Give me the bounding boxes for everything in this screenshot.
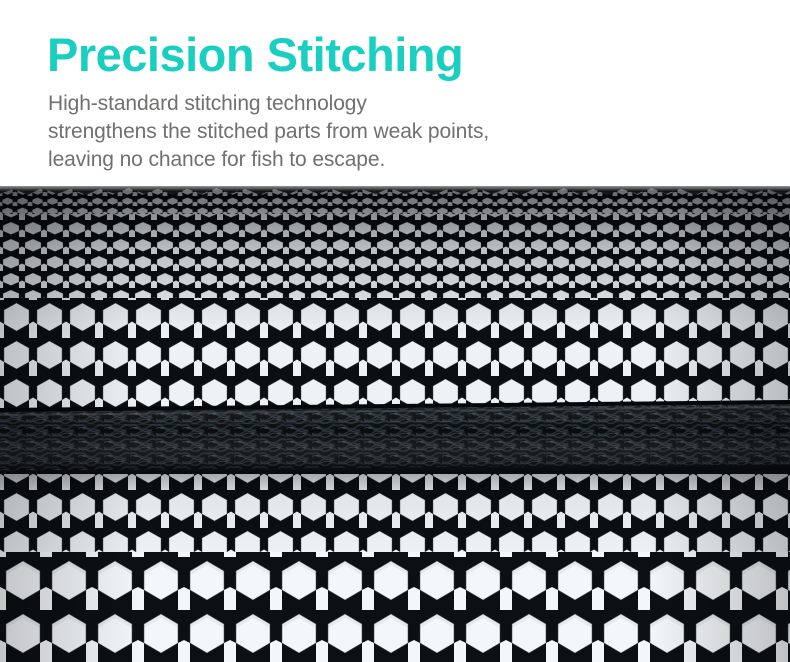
mesh-body: [0, 186, 790, 662]
description-text: High-standard stitching technology stren…: [48, 90, 489, 174]
header-text-block: Precision Stitching High-standard stitch…: [0, 0, 790, 186]
description-line: High-standard stitching technology: [48, 90, 489, 118]
product-feature-banner: Precision Stitching High-standard stitch…: [0, 0, 790, 662]
description-line: leaving no chance for fish to escape.: [48, 146, 489, 174]
description-line: strengthens the stitched parts from weak…: [48, 118, 489, 146]
page-title: Precision Stitching: [47, 29, 463, 81]
net-mesh-illustration: [0, 186, 790, 662]
photo-vignette: [0, 186, 790, 662]
net-mesh-photo: [0, 186, 790, 662]
